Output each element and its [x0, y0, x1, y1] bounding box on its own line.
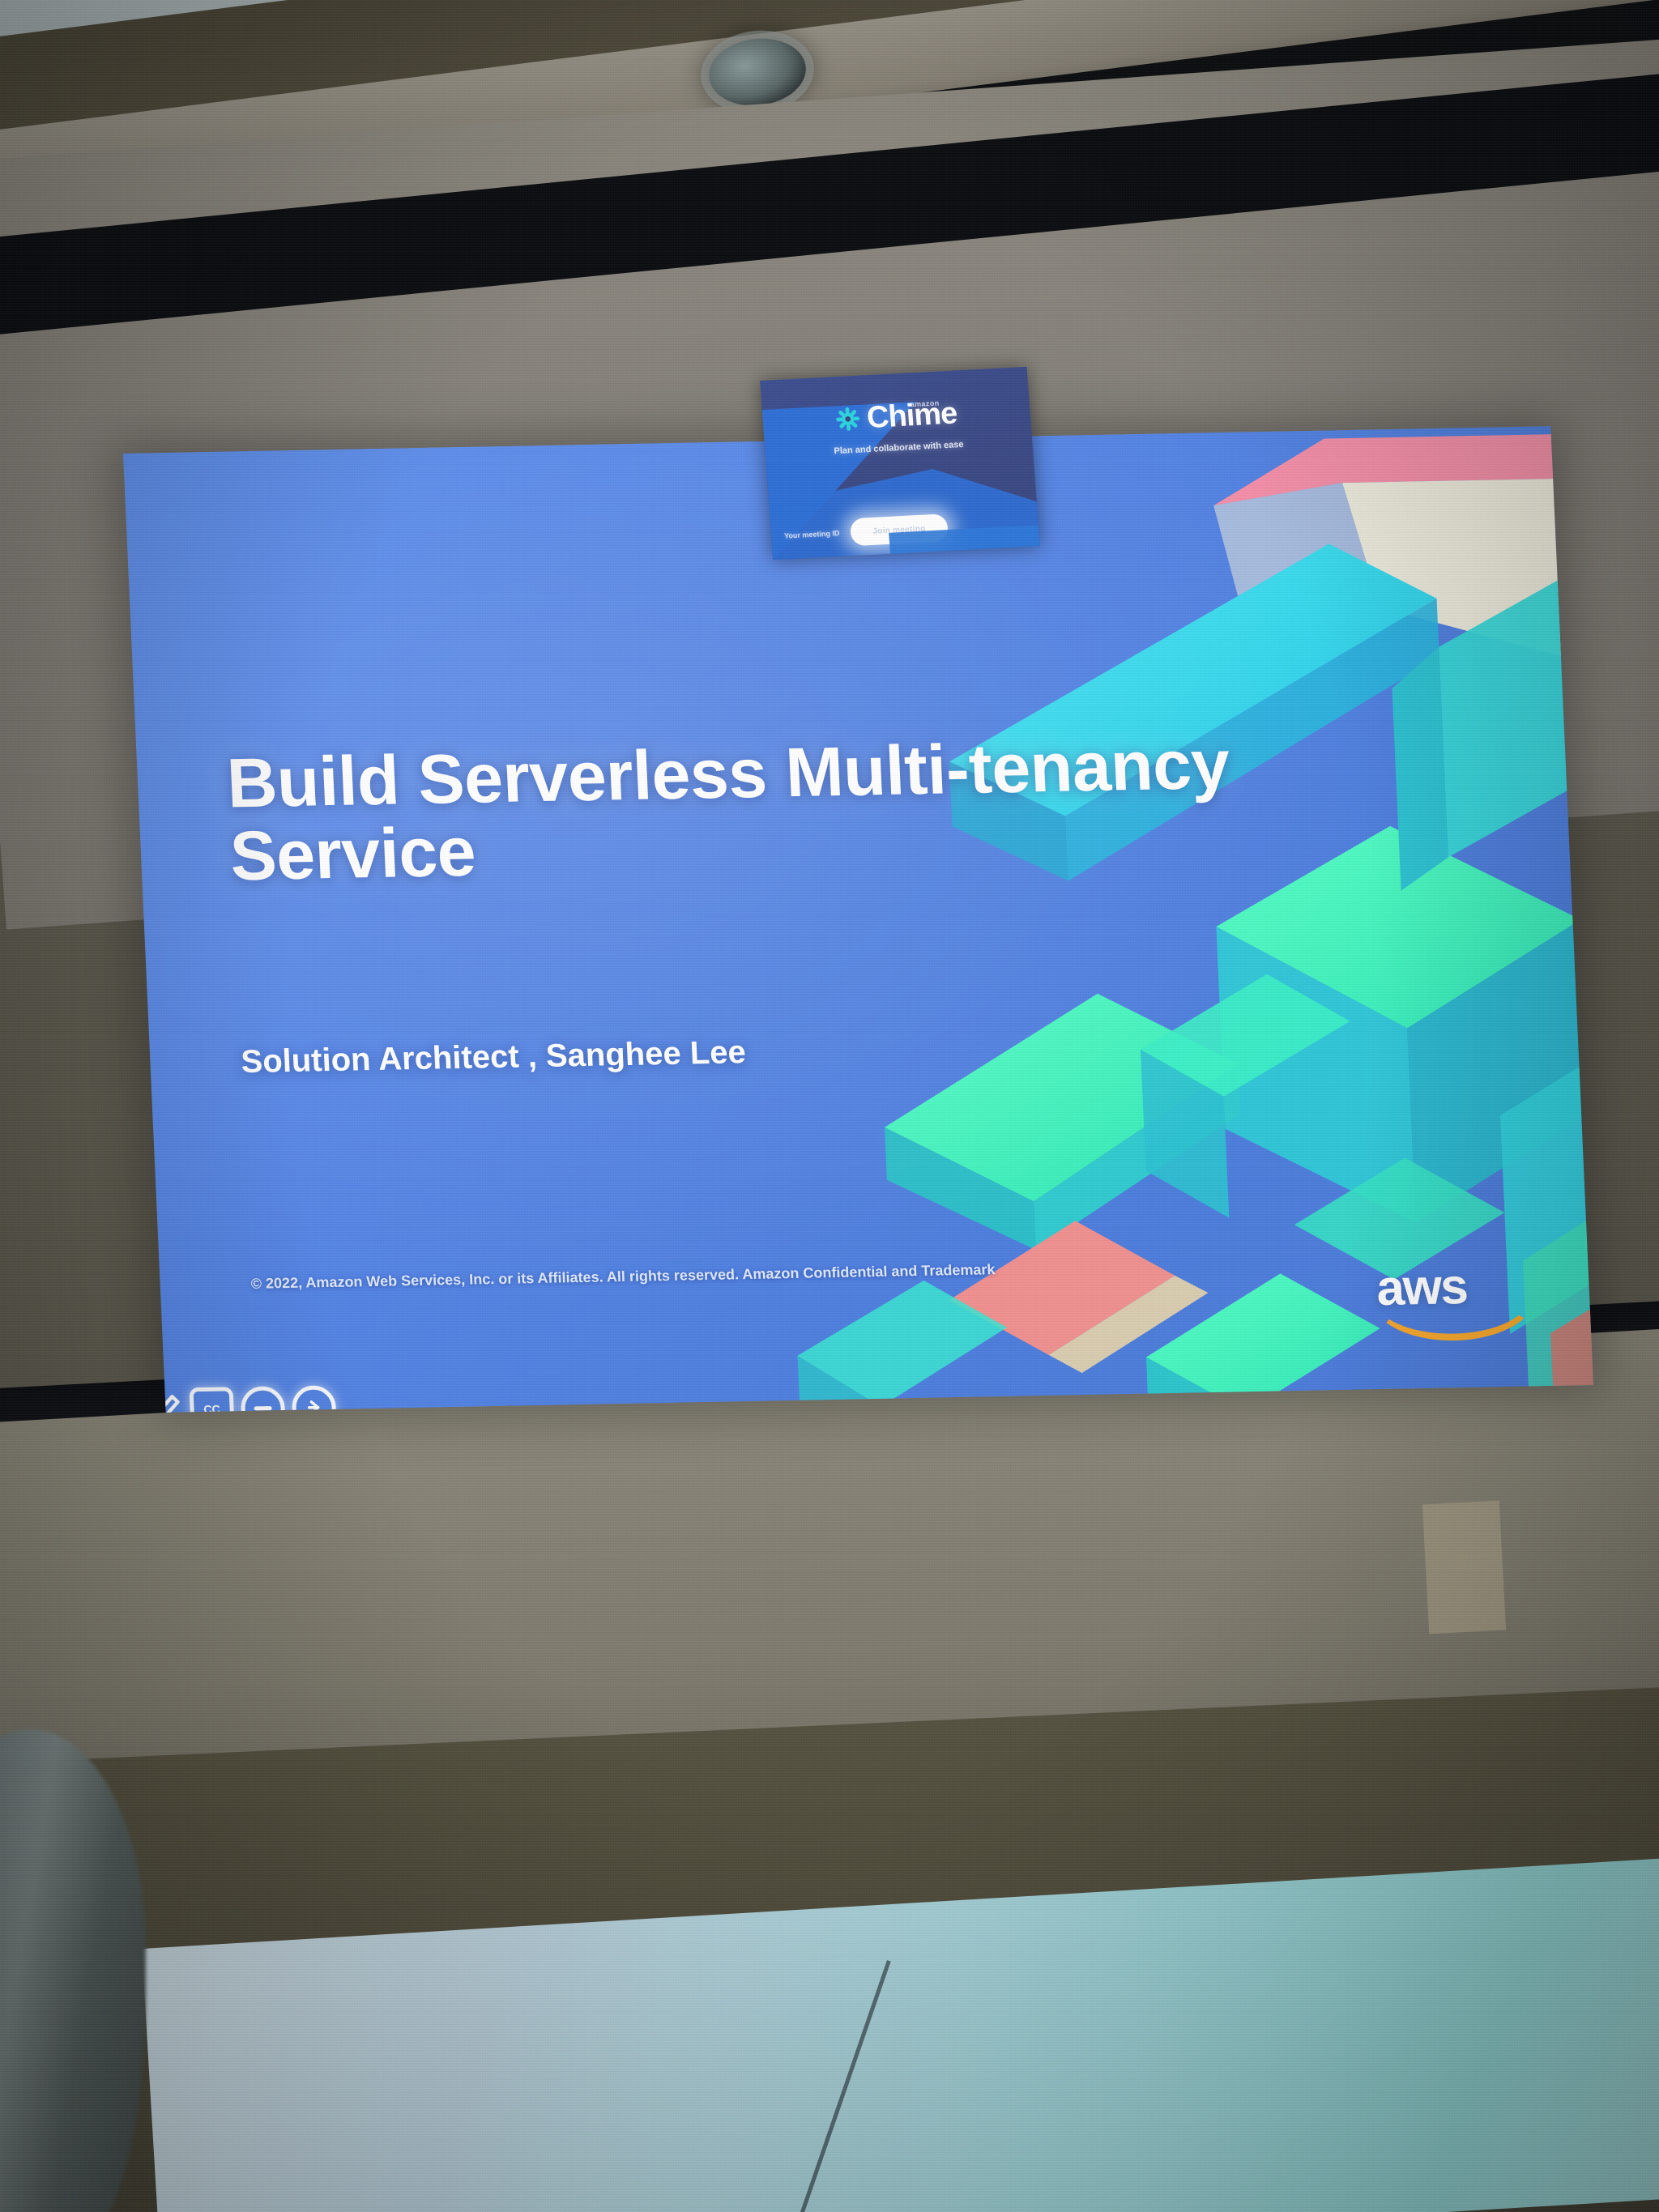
- page-title: Build Serverless Multi-tenancy Service: [225, 727, 1325, 893]
- aws-smile-icon: [1383, 1314, 1529, 1349]
- conference-room-scene: Build Serverless Multi-tenancy Service S…: [0, 0, 1659, 2212]
- aws-logo: aws: [1375, 1264, 1533, 1345]
- chime-logo: Chime: [761, 394, 1030, 439]
- next-slide-button[interactable]: [292, 1385, 337, 1412]
- aws-wordmark: aws: [1375, 1264, 1532, 1311]
- hide-controls-button[interactable]: [240, 1386, 285, 1412]
- projection-screen: Build Serverless Multi-tenancy Service S…: [123, 426, 1593, 1413]
- presentation-slide: Build Serverless Multi-tenancy Service S…: [123, 426, 1593, 1413]
- amazon-chime-window[interactable]: amazon Chim: [760, 367, 1040, 560]
- svg-text:CC: CC: [203, 1403, 220, 1413]
- chime-wordmark: Chime: [866, 398, 958, 433]
- wall-patch: [1422, 1501, 1506, 1634]
- closed-caption-icon: CC: [201, 1402, 223, 1413]
- closed-captions-button[interactable]: CC: [189, 1387, 234, 1413]
- chime-gear-icon: [835, 407, 861, 432]
